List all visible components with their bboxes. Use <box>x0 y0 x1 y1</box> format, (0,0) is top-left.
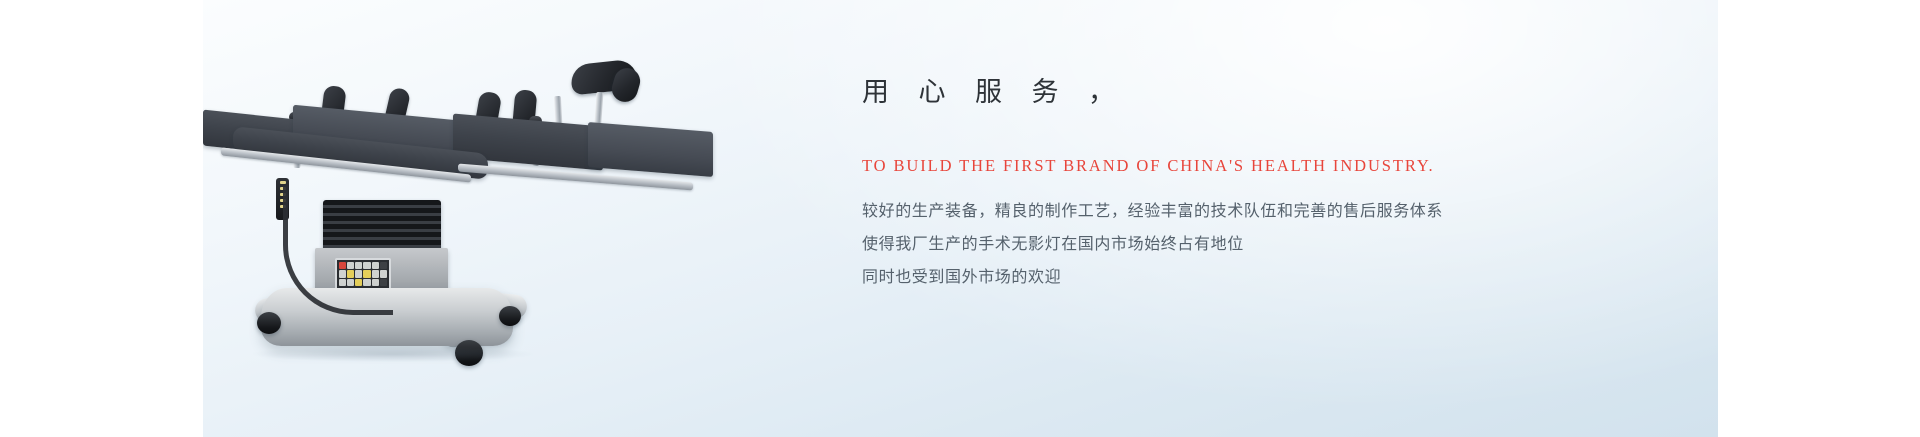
caster-wheel-left <box>257 312 281 334</box>
operating-table-image <box>203 0 763 437</box>
banner-copy: 用 心 服 务 ， TO BUILD THE FIRST BRAND OF CH… <box>862 52 1662 294</box>
product-illustration <box>203 0 763 437</box>
banner-tagline: TO BUILD THE FIRST BRAND OF CHINA'S HEAL… <box>862 155 1662 177</box>
about-banner: 用 心 服 务 ， TO BUILD THE FIRST BRAND OF CH… <box>203 0 1718 437</box>
page-root: 用 心 服 务 ， TO BUILD THE FIRST BRAND OF CH… <box>0 0 1920 437</box>
floor-shadow <box>253 346 533 362</box>
description-line-2: 使得我厂生产的手术无影灯在国内市场始终占有地位 <box>862 228 1662 261</box>
description-line-1: 较好的生产装备，精良的制作工艺，经验丰富的技术队伍和完善的售后服务体系 <box>862 195 1662 228</box>
banner-description: 较好的生产装备，精良的制作工艺，经验丰富的技术队伍和完善的售后服务体系 使得我厂… <box>862 195 1662 294</box>
description-line-3: 同时也受到国外市场的欢迎 <box>862 261 1662 294</box>
caster-wheel-right <box>499 306 521 326</box>
banner-headline: 用 心 服 务 ， <box>862 74 1662 110</box>
table-section-leg <box>588 122 713 177</box>
